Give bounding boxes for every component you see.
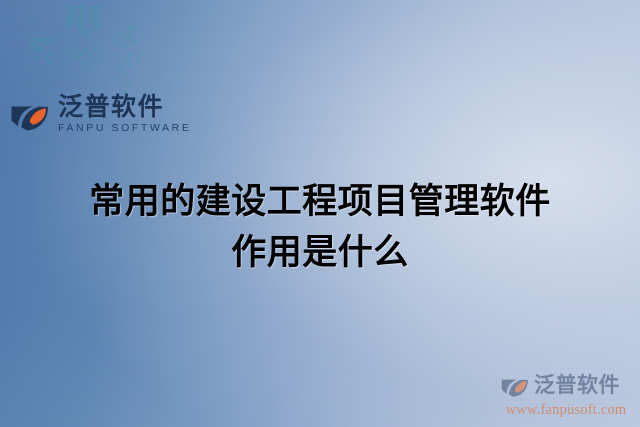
page-title: 常用的建设工程项目管理软件 作用是什么 <box>0 176 640 278</box>
watermark-name-cn: 泛普软件 <box>534 375 620 396</box>
corner-watermark: 泛普软件 www.fanpusoft.com <box>500 370 632 419</box>
brand-logo: 泛普软件 FANPU SOFTWARE <box>9 93 191 135</box>
brand-wordmark: 泛普软件 FANPU SOFTWARE <box>58 94 191 134</box>
page-title-line-2: 作用是什么 <box>18 227 622 278</box>
brand-name-en: FANPU SOFTWARE <box>58 123 191 134</box>
promo-banner: 泛普软件 FANPU SOFTWARE 常用的建设工程项目管理软件 作用是什么 … <box>0 0 640 427</box>
watermark-logo-row: 泛普软件 <box>500 370 632 400</box>
fanpu-logo-mark-icon <box>9 93 51 135</box>
brand-name-cn: 泛普软件 <box>58 94 191 120</box>
watermark-url: www.fanpusoft.com <box>500 402 632 419</box>
page-title-line-1: 常用的建设工程项目管理软件 <box>18 176 622 227</box>
fanpu-watermark-mark-icon <box>500 370 530 400</box>
